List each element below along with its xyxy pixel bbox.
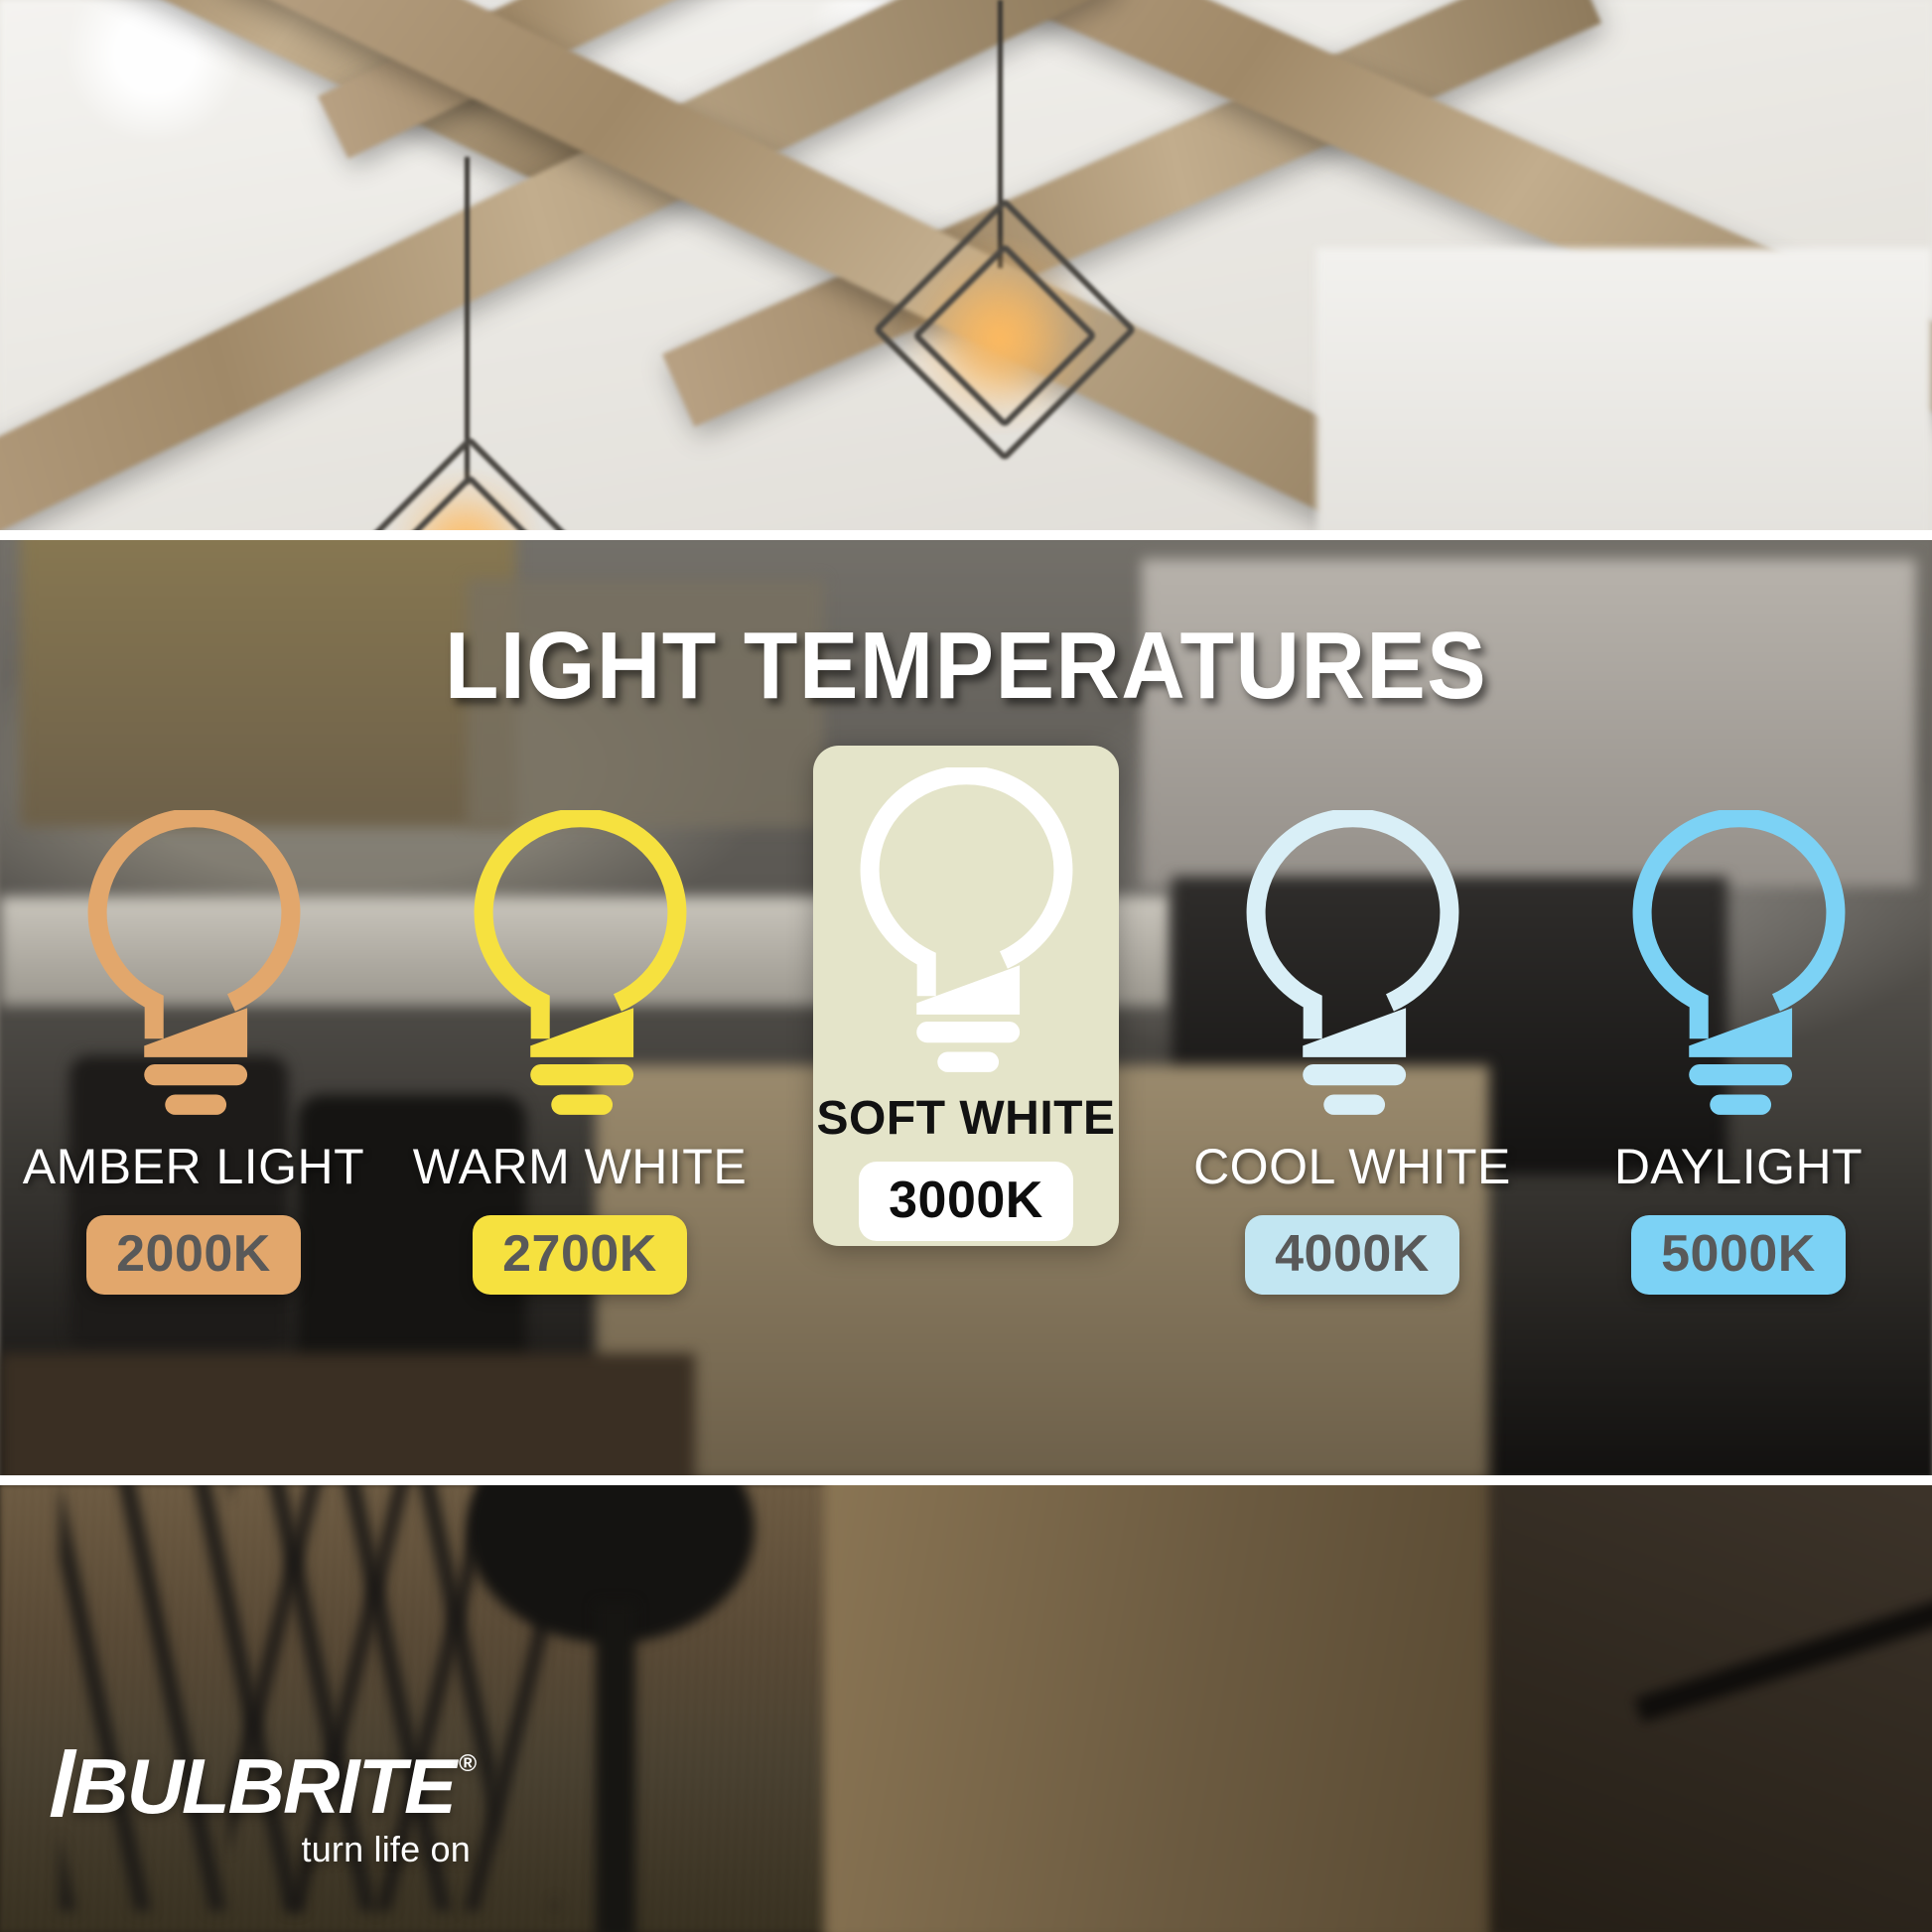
dark-cabinet [1489, 1484, 1932, 1932]
temperature-item[interactable]: WARM WHITE2700K [387, 792, 773, 1295]
temperature-label: SOFT WHITE [817, 1091, 1116, 1146]
temperature-label: AMBER LIGHT [23, 1138, 364, 1195]
lightbulb-icon [469, 810, 692, 1118]
temperature-item[interactable]: SOFT WHITE3000K [773, 746, 1160, 1241]
top-photo-band [0, 0, 1932, 536]
lightbulb-icon [1241, 810, 1464, 1118]
brand-name: BULBRITE [71, 1749, 455, 1823]
temperature-label: COOL WHITE [1193, 1138, 1511, 1195]
lightbulb-icon [82, 810, 306, 1118]
temperature-list: AMBER LIGHT2000K WARM WHITE2700K [0, 792, 1932, 1295]
kelvin-badge[interactable]: 3000K [859, 1162, 1073, 1241]
brand-logo: BULBRITE ® turn life on [62, 1749, 471, 1870]
island-panel [824, 1484, 1519, 1932]
brand-wordmark: BULBRITE ® [58, 1749, 475, 1823]
stool-post [596, 1603, 635, 1932]
kelvin-badge[interactable]: 5000K [1631, 1215, 1846, 1295]
lightbulb-icon [855, 767, 1078, 1075]
kelvin-badge[interactable]: 2000K [86, 1215, 301, 1295]
temperature-label: WARM WHITE [413, 1138, 747, 1195]
content-overlay: LIGHT TEMPERATURES AMBER LIGHT2000K [0, 539, 1932, 1477]
kelvin-badge[interactable]: 4000K [1245, 1215, 1459, 1295]
temperature-item[interactable]: AMBER LIGHT2000K [1, 792, 387, 1295]
kelvin-badge[interactable]: 2700K [473, 1215, 687, 1295]
light-temperatures-poster: LIGHT TEMPERATURES AMBER LIGHT2000K [0, 0, 1932, 1932]
wall-panel [1316, 248, 1932, 536]
temperature-label: DAYLIGHT [1614, 1138, 1863, 1195]
brand-tagline: turn life on [62, 1829, 471, 1870]
page-title: LIGHT TEMPERATURES [68, 612, 1864, 721]
registered-trademark-icon: ® [459, 1753, 475, 1776]
lightbulb-icon [1627, 810, 1851, 1118]
temperature-item[interactable]: COOL WHITE4000K [1160, 792, 1546, 1295]
temperature-item[interactable]: DAYLIGHT5000K [1546, 792, 1932, 1295]
